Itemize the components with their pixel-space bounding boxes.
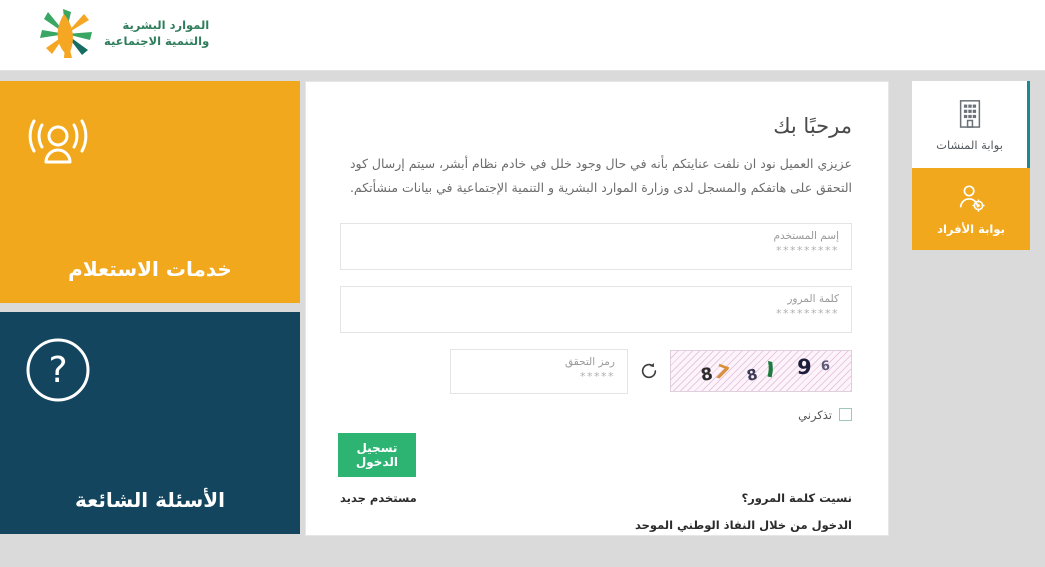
captcha-value: ***** [580, 370, 615, 383]
captcha-char: 6 [820, 360, 830, 374]
auth-links-row: نسيت كلمة المرور؟ مستخدم جديد [340, 491, 852, 505]
building-icon [955, 97, 985, 129]
hrsd-star-logo-icon [36, 6, 96, 62]
national-access-link[interactable]: الدخول من خلال النفاذ الوطني الموحد [340, 518, 852, 532]
forgot-password-link[interactable]: نسيت كلمة المرور؟ [741, 491, 852, 505]
login-card: مرحبًا بك عزيزي العميل نود ان نلفت عنايت… [305, 81, 889, 536]
portal-tabs: بوابة المنشات بوابة الأفراد [912, 81, 1030, 250]
welcome-description: عزيزي العميل نود ان نلفت عنايتكم بأنه في… [342, 152, 852, 201]
tab-individuals-portal[interactable]: بوابة الأفراد [912, 168, 1030, 250]
logo-text: الموارد البشرية والتنمية الاجتماعية [104, 18, 209, 49]
tab-establishments-portal[interactable]: بوابة المنشات [912, 81, 1030, 168]
captcha-image: 69١878 [670, 350, 852, 392]
page-root: الموارد البشرية والتنمية الاجتماعية خدما… [0, 0, 1045, 567]
new-user-link[interactable]: مستخدم جديد [340, 491, 417, 505]
tab-individuals-label: بوابة الأفراد [937, 222, 1005, 236]
captcha-row: 69١878 رمز التحقق ***** [340, 349, 852, 394]
remember-me-label: تذكرني [798, 408, 832, 422]
promo-card-inquiry-services[interactable]: خدمات الاستعلام [0, 81, 300, 303]
tab-establishments-label: بوابة المنشات [936, 138, 1003, 152]
captcha-char: 7 [712, 363, 731, 385]
password-field[interactable]: كلمة المرور ********* [340, 286, 852, 333]
question-mark-circle-icon: ? [24, 336, 92, 404]
remember-me-checkbox[interactable] [839, 408, 852, 421]
remember-me-row: تذكرني [340, 408, 852, 422]
password-label: كلمة المرور [787, 293, 839, 305]
site-header: الموارد البشرية والتنمية الاجتماعية [0, 0, 1045, 71]
broadcast-person-icon [24, 105, 92, 173]
captcha-label: رمز التحقق [565, 356, 615, 368]
captcha-char: 9 [796, 357, 812, 379]
username-value: ********* [776, 244, 839, 257]
logo-line-1: الموارد البشرية [122, 18, 209, 32]
promo-title-inquiry-services: خدمات الاستعلام [0, 257, 300, 281]
captcha-input[interactable]: رمز التحقق ***** [450, 349, 628, 394]
login-button[interactable]: تسجيل الدخول [338, 433, 416, 477]
refresh-icon[interactable] [638, 360, 660, 382]
captcha-char: 8 [700, 366, 715, 385]
captcha-char: ١ [761, 356, 780, 383]
person-gear-icon [956, 183, 986, 213]
promo-title-faq: الأسئلة الشائعة [0, 488, 300, 512]
site-logo[interactable]: الموارد البشرية والتنمية الاجتماعية [36, 6, 209, 62]
promo-card-faq[interactable]: ? الأسئلة الشائعة [0, 312, 300, 534]
svg-text:?: ? [48, 350, 67, 391]
username-label: إسم المستخدم [773, 230, 839, 242]
page-title: مرحبًا بك [342, 114, 852, 138]
captcha-char: 8 [745, 367, 759, 384]
password-value: ********* [776, 307, 839, 320]
logo-line-2: والتنمية الاجتماعية [104, 34, 209, 50]
username-field[interactable]: إسم المستخدم ********* [340, 223, 852, 270]
